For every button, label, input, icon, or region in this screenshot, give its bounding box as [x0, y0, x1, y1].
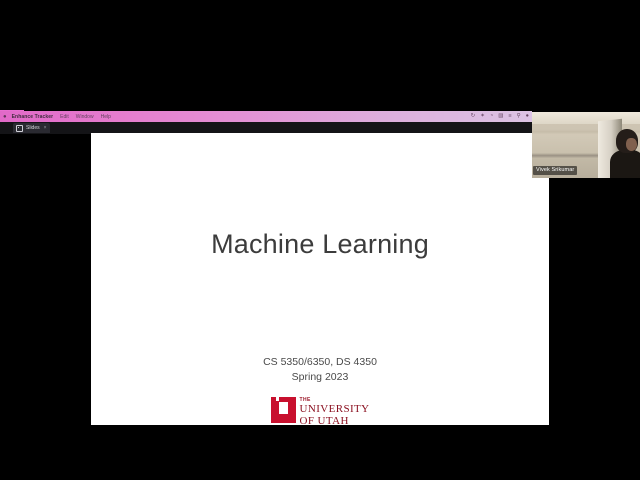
- menu-app-name[interactable]: Enhance Tracker: [12, 114, 54, 120]
- bluetooth-icon[interactable]: ✶: [480, 114, 485, 120]
- presenter-face: [626, 138, 637, 151]
- logo-text-university: UNIVERSITY: [300, 404, 370, 415]
- slide-subtitle: CS 5350/6350, DS 4350 Spring 2023: [91, 355, 549, 385]
- control-center-icon[interactable]: ≡: [508, 114, 511, 120]
- battery-icon[interactable]: ▧: [498, 114, 503, 120]
- search-icon[interactable]: ⚲: [517, 114, 521, 120]
- menu-item-help[interactable]: Help: [101, 114, 111, 120]
- slide-subtitle-course: CS 5350/6350, DS 4350: [91, 355, 549, 370]
- webcam-overlay[interactable]: Vivek Srikumar: [532, 112, 640, 178]
- screen-share-icon[interactable]: ↻: [471, 114, 476, 120]
- captured-desktop: ● Enhance Tracker Edit Window Help ↻ ✶ ◔…: [0, 55, 640, 425]
- letterbox-bottom: [0, 425, 640, 480]
- university-of-utah-u-block-icon: [271, 397, 296, 423]
- university-of-utah-logo: THE UNIVERSITY OF UTAH: [91, 397, 549, 427]
- menu-item-edit[interactable]: Edit: [60, 114, 69, 120]
- university-of-utah-wordmark: THE UNIVERSITY OF UTAH: [300, 397, 370, 427]
- presentation-favicon: [16, 125, 23, 132]
- presentation-slide[interactable]: Machine Learning CS 5350/6350, DS 4350 S…: [91, 133, 549, 475]
- menu-item-window[interactable]: Window: [76, 114, 94, 120]
- browser-tab-title: Slides: [26, 125, 40, 131]
- presenter-name-label: Vivek Srikumar: [533, 166, 577, 175]
- wifi-icon[interactable]: ◔: [490, 114, 493, 120]
- apple-menu-icon[interactable]: ●: [3, 114, 7, 120]
- webcam-ceiling: [532, 112, 640, 124]
- menu-bar: ● Enhance Tracker Edit Window Help ↻ ✶ ◔…: [0, 111, 532, 122]
- slide-title: Machine Learning: [91, 229, 549, 260]
- presenter-body: [610, 150, 640, 178]
- slide-subtitle-term: Spring 2023: [91, 370, 549, 385]
- browser-tab[interactable]: Slides ×: [13, 123, 50, 133]
- user-icon[interactable]: ●: [526, 114, 529, 120]
- letterbox-top: [0, 0, 640, 55]
- close-icon[interactable]: ×: [44, 126, 47, 131]
- screen-recording-frame: ● Enhance Tracker Edit Window Help ↻ ✶ ◔…: [0, 0, 640, 480]
